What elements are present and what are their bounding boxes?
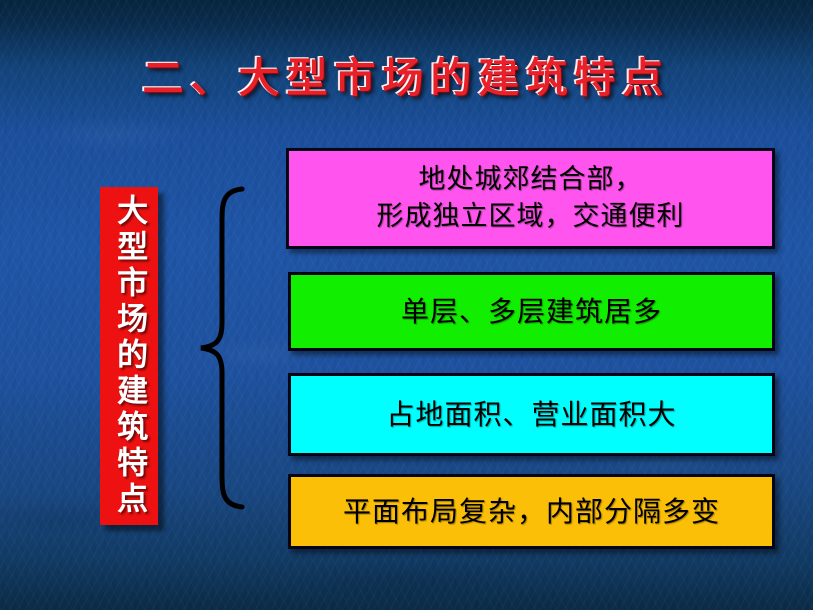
vertical-banner-label: 大型市场的建筑特点 — [110, 194, 148, 518]
slide-title: 二、大型市场的建筑特点 — [0, 44, 813, 104]
presentation-slide: 二、大型市场的建筑特点 大型市场的建筑特点 地处城郊结合部， 形成独立区域，交通… — [0, 0, 813, 610]
left-curly-brace-icon — [196, 183, 252, 513]
feature-box-layout: 平面布局复杂，内部分隔多变 — [288, 474, 775, 549]
feature-box-layout-text: 平面布局复杂，内部分隔多变 — [343, 494, 720, 530]
feature-box-storeys-text: 单层、多层建筑居多 — [401, 294, 662, 330]
feature-box-area: 占地面积、营业面积大 — [288, 373, 775, 456]
feature-box-location: 地处城郊结合部， 形成独立区域，交通便利 — [286, 148, 775, 249]
feature-box-location-text: 地处城郊结合部， 形成独立区域，交通便利 — [377, 162, 685, 235]
feature-box-area-text: 占地面积、营业面积大 — [386, 397, 676, 433]
feature-box-storeys: 单层、多层建筑居多 — [288, 272, 775, 351]
vertical-banner: 大型市场的建筑特点 — [100, 187, 158, 525]
